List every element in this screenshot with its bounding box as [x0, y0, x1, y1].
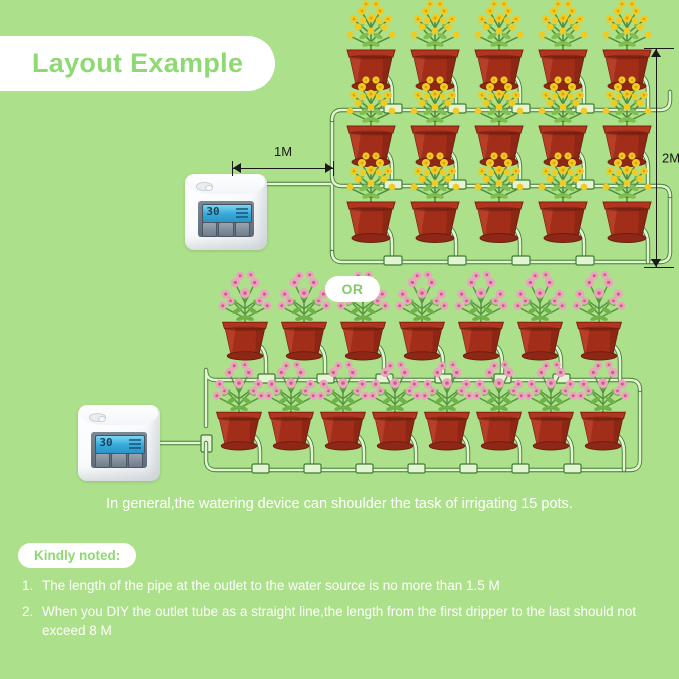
lcd-screen: 30 [95, 435, 145, 454]
note-text: The length of the pipe at the outlet to … [42, 576, 500, 595]
note-number: 1. [22, 576, 42, 595]
dim-line [232, 168, 334, 169]
or-divider-badge: OR [325, 276, 380, 302]
button-middle[interactable] [111, 453, 126, 468]
water-outlet-port [196, 182, 213, 191]
dim-label-2m: 2M [662, 151, 679, 166]
note-number: 2. [22, 602, 42, 621]
controller-buttons[interactable] [95, 453, 143, 466]
controller-buttons[interactable] [202, 222, 250, 235]
button-left[interactable] [95, 453, 110, 468]
button-left[interactable] [202, 222, 217, 237]
top-row1-drippers [356, 62, 648, 113]
kindly-noted-badge: Kindly noted: [18, 543, 136, 568]
dim-line [656, 48, 657, 268]
layout-diagram: .tb{fill:none;stroke:#3E7D32;stroke-widt… [0, 0, 679, 679]
controller-panel: 30 [91, 432, 147, 468]
lcd-bars [236, 208, 248, 220]
dimension-1m: 1M [232, 160, 334, 178]
button-right[interactable] [235, 222, 250, 237]
top-row2-bus [332, 120, 670, 196]
arrow-left-icon [233, 163, 241, 173]
top-row2-drippers [356, 138, 648, 189]
lcd-bars [129, 439, 141, 451]
button-right[interactable] [128, 453, 143, 468]
arrow-right-icon [325, 163, 333, 173]
bottom-row2-drippers [224, 422, 624, 473]
dimension-2m: 2M [648, 48, 678, 268]
bottom-controller[interactable]: 30 [78, 405, 160, 481]
caption-text: In general,the watering device can shoul… [0, 496, 679, 512]
button-middle[interactable] [218, 222, 233, 237]
top-row3-drippers [356, 214, 648, 265]
kindly-noted-label: Kindly noted: [34, 548, 120, 563]
arrow-up-icon [651, 49, 661, 57]
top-controller[interactable]: 30 [185, 174, 267, 250]
bottom-row1-drippers [230, 332, 620, 383]
water-outlet-port [89, 413, 106, 422]
controller-panel: 30 [198, 201, 254, 237]
notes-list: 1. The length of the pipe at the outlet … [22, 576, 662, 647]
lcd-value: 30 [99, 437, 112, 448]
dim-label-1m: 1M [232, 144, 334, 159]
lcd-value: 30 [206, 206, 219, 217]
arrow-down-icon [651, 259, 661, 267]
title-badge: Layout Example [0, 36, 275, 91]
bottom-row2-bus [206, 390, 640, 470]
top-row1-bus [332, 92, 670, 120]
note-item: 1. The length of the pipe at the outlet … [22, 576, 662, 595]
note-item: 2. When you DIY the outlet tube as a str… [22, 602, 662, 640]
note-text: When you DIY the outlet tube as a straig… [42, 602, 662, 640]
or-label: OR [342, 281, 364, 297]
lcd-screen: 30 [202, 204, 252, 223]
page-title: Layout Example [32, 48, 243, 79]
top-row3-bus [332, 196, 670, 262]
